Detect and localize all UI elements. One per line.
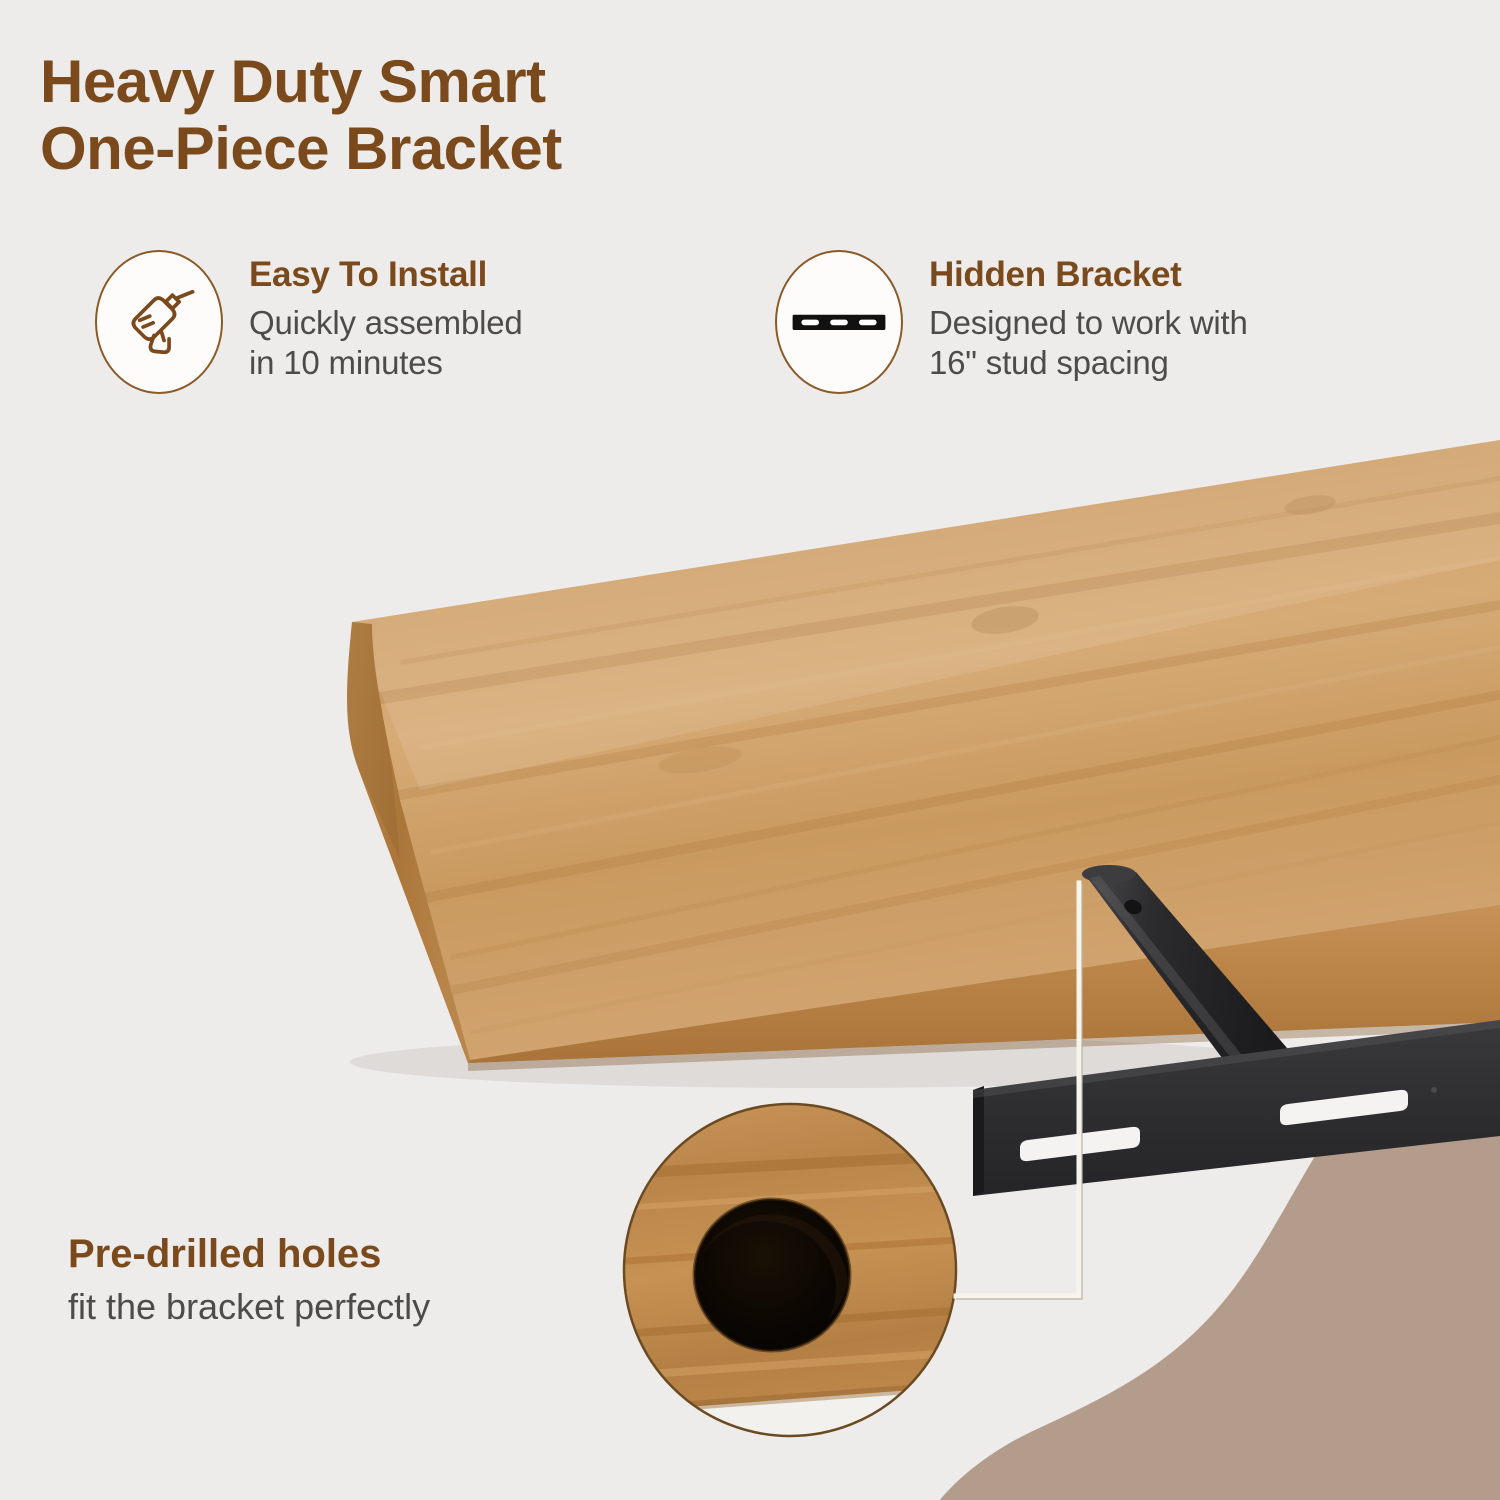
- bracket-bar-icon-badge: [775, 250, 903, 394]
- feature-title: Easy To Install: [249, 256, 523, 295]
- feature-list: Easy To Install Quickly assembled in 10 …: [95, 250, 1455, 394]
- drill-icon: [117, 280, 201, 364]
- bracket-bar-icon: [791, 302, 887, 342]
- drill-icon-badge: [95, 250, 223, 394]
- feature-title: Hidden Bracket: [929, 256, 1248, 295]
- infographic-canvas: Heavy Duty Smart One-Piece Bracket: [0, 0, 1500, 1500]
- callout-caption: Pre-drilled holes fit the bracket perfec…: [68, 1232, 588, 1327]
- feature-item-easy-to-install: Easy To Install Quickly assembled in 10 …: [95, 250, 715, 394]
- feature-text: Hidden Bracket Designed to work with 16"…: [929, 250, 1248, 383]
- callout-title: Pre-drilled holes: [68, 1232, 588, 1276]
- feature-text: Easy To Install Quickly assembled in 10 …: [249, 250, 523, 383]
- feature-description: Quickly assembled in 10 minutes: [249, 303, 523, 384]
- feature-description: Designed to work with 16" stud spacing: [929, 303, 1248, 384]
- feature-item-hidden-bracket: Hidden Bracket Designed to work with 16"…: [775, 250, 1395, 394]
- page-title: Heavy Duty Smart One-Piece Bracket: [40, 48, 562, 182]
- magnifier-circle: [620, 1100, 965, 1445]
- callout-description: fit the bracket perfectly: [68, 1286, 588, 1327]
